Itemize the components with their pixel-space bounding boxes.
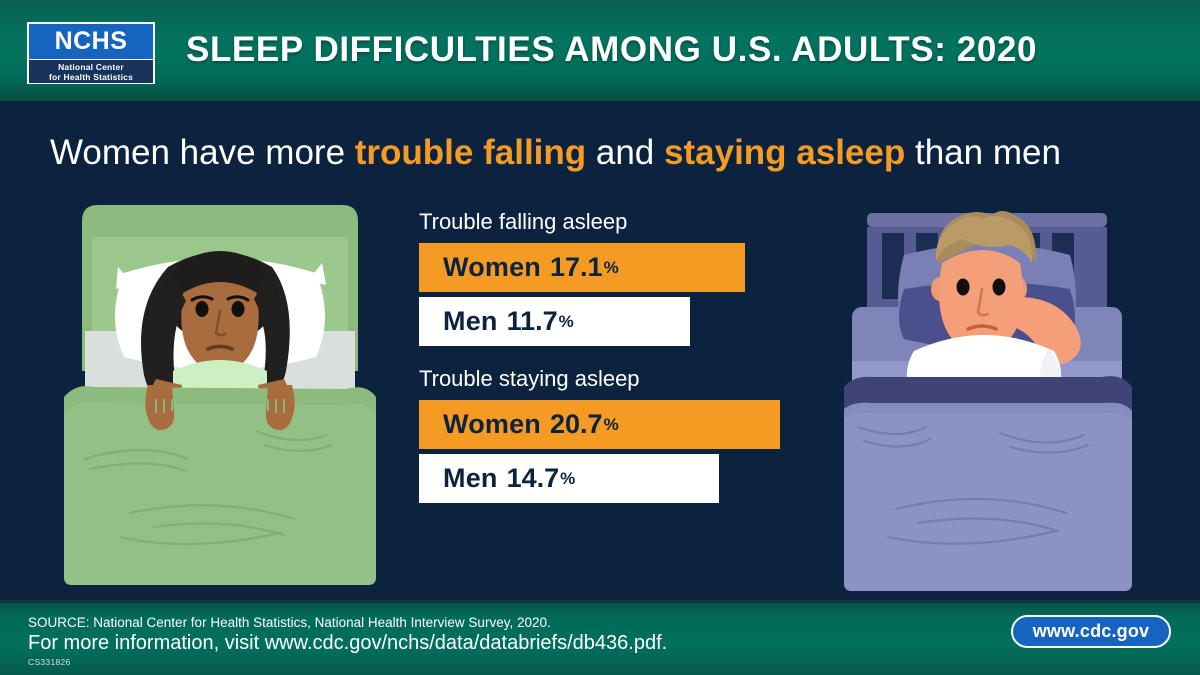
- page-title: SLEEP DIFFICULTIES AMONG U.S. ADULTS: 20…: [186, 28, 1037, 72]
- bar-label-women-staying: Women: [443, 409, 541, 440]
- nchs-logo-acronym-block: NCHS: [29, 24, 153, 60]
- bar-value-men-staying: 14.7: [507, 463, 560, 494]
- bar-value-men-falling: 11.7: [507, 306, 558, 337]
- chart-group-trouble-staying-asleep: Trouble staying asleep Women 20.7 % Men …: [419, 366, 819, 503]
- nchs-name-line1: National Center: [58, 62, 124, 72]
- bar-percent-sign-men-falling: %: [559, 312, 574, 332]
- subtitle-highlight-trouble-falling: trouble falling: [355, 133, 586, 172]
- bar-women-staying-asleep: Women 20.7 %: [419, 400, 780, 449]
- bar-men-staying-asleep: Men 14.7 %: [419, 454, 719, 503]
- subtitle-part1: Women have more: [50, 133, 355, 172]
- subtitle: Women have more trouble falling and stay…: [50, 131, 1160, 175]
- illustration-man-awake-in-bed: [822, 201, 1152, 596]
- bar-men-falling-asleep: Men 11.7 %: [419, 297, 690, 346]
- body-area: Women have more trouble falling and stay…: [0, 101, 1200, 600]
- nchs-name-line2: for Health Statistics: [49, 72, 133, 82]
- bar-label-women-falling: Women: [443, 252, 541, 283]
- subtitle-part2: and: [586, 133, 664, 172]
- nchs-acronym: NCHS: [55, 29, 128, 54]
- header-bar: NCHS National Center for Health Statisti…: [0, 0, 1200, 101]
- subtitle-part3: than men: [905, 133, 1061, 172]
- illustration-woman-awake-in-bed: [60, 201, 380, 596]
- cdc-website-label: www.cdc.gov: [1033, 621, 1150, 642]
- bar-value-women-staying: 20.7: [550, 409, 603, 440]
- bar-label-men-falling: Men: [443, 306, 498, 337]
- bar-value-women-falling: 17.1: [550, 252, 603, 283]
- bar-label-men-staying: Men: [443, 463, 498, 494]
- subtitle-highlight-staying-asleep: staying asleep: [664, 133, 905, 172]
- cdc-website-badge[interactable]: www.cdc.gov: [1011, 615, 1171, 648]
- bar-percent-sign-women-staying: %: [604, 415, 619, 435]
- bar-percent-sign-women-falling: %: [604, 258, 619, 278]
- infographic-page: NCHS National Center for Health Statisti…: [0, 0, 1200, 675]
- source-text: SOURCE: National Center for Health Stati…: [28, 615, 551, 631]
- chart-group-trouble-falling-asleep: Trouble falling asleep Women 17.1 % Men …: [419, 209, 819, 346]
- footer-divider: [0, 600, 1200, 603]
- bar-women-falling-asleep: Women 17.1 %: [419, 243, 745, 292]
- more-information-text: For more information, visit www.cdc.gov/…: [28, 631, 667, 655]
- nchs-logo: NCHS National Center for Health Statisti…: [27, 22, 155, 84]
- cs-code-text: CS331826: [28, 657, 71, 667]
- bar-chart: Trouble falling asleep Women 17.1 % Men …: [419, 209, 819, 523]
- nchs-logo-name-block: National Center for Health Statistics: [29, 60, 153, 83]
- group-label-falling-asleep: Trouble falling asleep: [419, 209, 819, 235]
- group-label-staying-asleep: Trouble staying asleep: [419, 366, 819, 392]
- bar-percent-sign-men-staying: %: [560, 469, 575, 489]
